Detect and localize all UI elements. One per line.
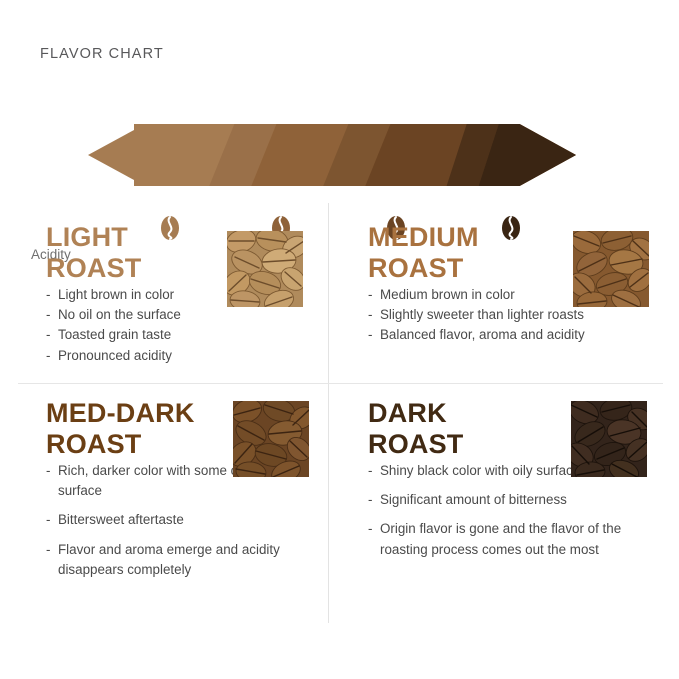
roast-bullets-med-dark: Rich, darker color with some oil on the … (46, 461, 314, 581)
med-dark-roast-beans-photo (233, 401, 309, 477)
list-item: Bittersweet aftertaste (46, 510, 314, 530)
flavor-chart-infographic: FLAVOR CHART Acidity Bitterness LIGHT M (0, 0, 679, 679)
scale-arrow-graphic (88, 124, 576, 186)
dark-roast-beans-photo (571, 401, 647, 477)
list-item: Pronounced acidity (46, 346, 314, 366)
page-title: FLAVOR CHART (40, 46, 164, 62)
medium-roast-beans-photo (573, 231, 649, 307)
list-item: Balanced flavor, aroma and acidity (368, 325, 668, 345)
list-item: Significant amount of bitterness (368, 490, 668, 510)
list-item: Flavor and aroma emerge and acidity disa… (46, 540, 314, 581)
roast-scale: Acidity Bitterness LIGHT MEDIUM MED-DARK… (0, 104, 679, 186)
light-roast-beans-photo (227, 231, 303, 307)
list-item: Toasted grain taste (46, 325, 314, 345)
list-item: Slightly sweeter than lighter roasts (368, 305, 668, 325)
quadrant-divider-horizontal (18, 383, 663, 384)
quadrant-divider-vertical (328, 203, 329, 623)
list-item: Origin flavor is gone and the flavor of … (368, 519, 668, 560)
list-item: No oil on the surface (46, 305, 314, 325)
